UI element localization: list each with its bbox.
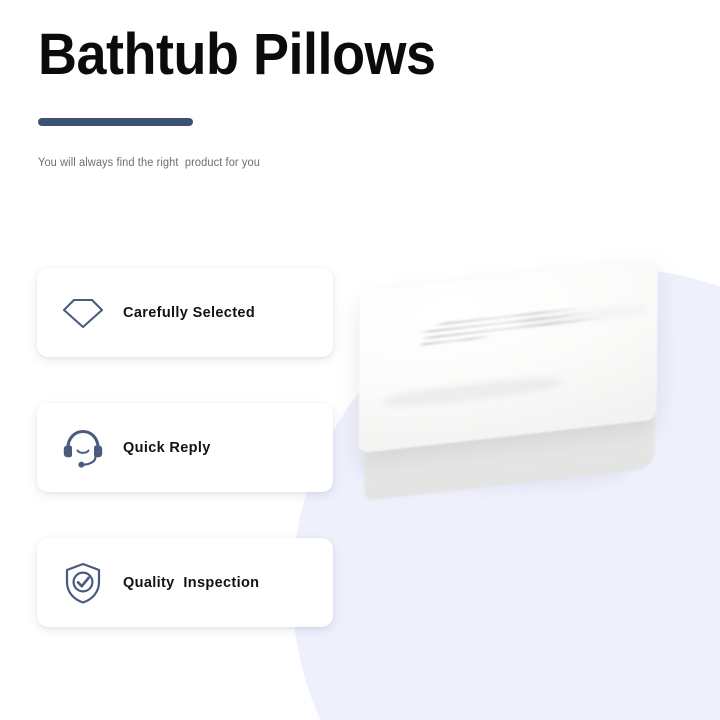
product-package [358,250,658,536]
feature-card-quick-reply[interactable]: Quick Reply [37,403,333,492]
product-banner-page: Bathtub Pillows You will always find the… [0,0,720,720]
feature-label: Quality Inspection [123,575,333,591]
accent-bar [38,118,193,126]
gem-icon [55,295,111,331]
header: Bathtub Pillows You will always find the… [38,22,466,171]
feature-card-carefully-selected[interactable]: Carefully Selected [37,268,333,357]
feature-label: Carefully Selected [123,305,333,321]
shield-check-icon [55,561,111,605]
product-photo [330,250,720,580]
headset-icon [55,427,111,469]
feature-label: Quick Reply [123,440,333,456]
page-title: Bathtub Pillows [38,22,436,88]
page-subtitle: You will always find the right product f… [38,156,448,171]
package-top-face [359,258,658,453]
feature-list: Carefully Selected Quick Reply [37,268,333,627]
feature-card-quality-inspection[interactable]: Quality Inspection [37,538,333,627]
